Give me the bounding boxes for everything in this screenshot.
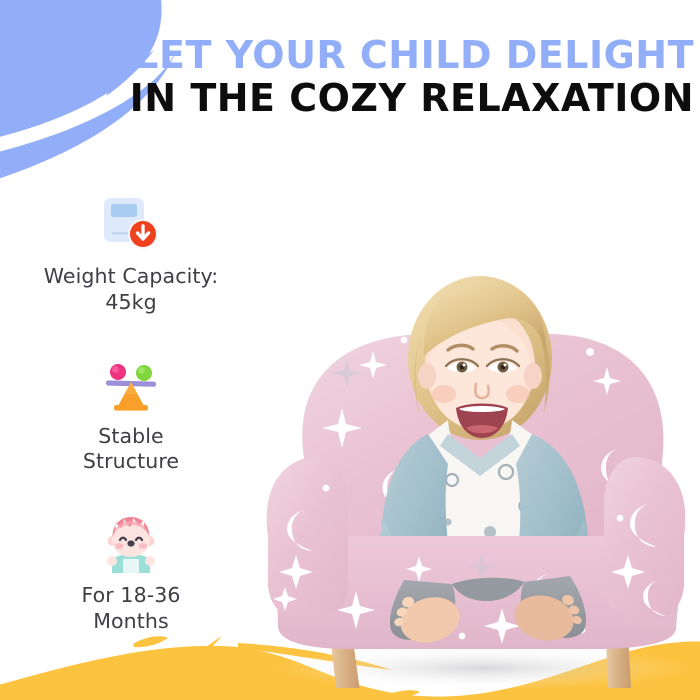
weight-scale-icon <box>8 192 254 254</box>
feature-age-range: For 18-36 Months <box>8 511 254 635</box>
feature-label: Weight Capacity: 45kg <box>8 264 254 316</box>
headline-block: LET YOUR CHILD DELIGHT IN THE COZY RELAX… <box>0 36 700 120</box>
headline-line-1: LET YOUR CHILD DELIGHT <box>0 36 694 76</box>
feature-label: Stable Structure <box>8 424 254 476</box>
balance-scale-icon <box>8 352 254 414</box>
headline-line-2: IN THE COZY RELAXATION <box>0 78 694 120</box>
yellow-sliver-dot <box>390 690 420 697</box>
product-photo: Smiling blonde toddler sitting in a pink… <box>252 128 700 688</box>
feature-stable-structure: Stable Structure <box>8 352 254 476</box>
feature-label: For 18-36 Months <box>8 583 254 635</box>
promo-banner: LET YOUR CHILD DELIGHT IN THE COZY RELAX… <box>0 0 700 700</box>
baby-face-icon <box>8 511 254 573</box>
feature-weight-capacity: Weight Capacity: 45kg <box>8 192 254 316</box>
feature-list: Weight Capacity: 45kg Stable Structure <box>8 192 254 671</box>
